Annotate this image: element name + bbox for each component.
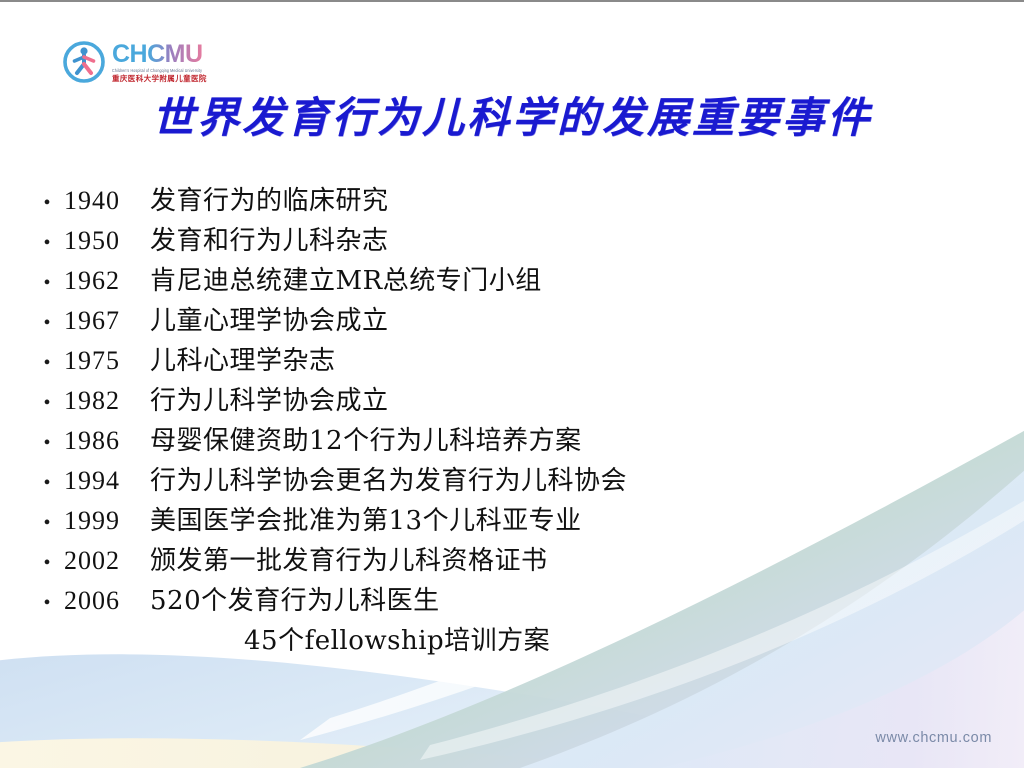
list-item: • 1967 儿童心理学协会成立	[30, 300, 994, 340]
bullet-icon: •	[30, 273, 64, 293]
timeline-text: 520个发育行为儿科医生	[138, 580, 440, 617]
list-item: • 1982 行为儿科学协会成立	[30, 380, 994, 420]
footer-website-url: www.chcmu.com	[875, 730, 992, 746]
list-item: • 1940 发育行为的临床研究	[30, 180, 994, 220]
list-item: • 1962 肯尼迪总统建立MR总统专门小组	[30, 260, 994, 300]
timeline-year: 1962	[64, 266, 138, 296]
timeline-year: 1982	[64, 386, 138, 416]
bullet-icon: •	[30, 193, 64, 213]
timeline-year: 1986	[64, 426, 138, 456]
bullet-icon: •	[30, 473, 64, 493]
page-title: 世界发育行为儿科学的发展重要事件	[0, 84, 1024, 145]
list-item: • 1994 行为儿科学协会更名为发育行为儿科协会	[30, 460, 994, 500]
presentation-slide: CHCMU Children's Hospital of Chongqing M…	[0, 0, 1024, 768]
bullet-icon: •	[30, 513, 64, 533]
timeline-text: 颁发第一批发育行为儿科资格证书	[138, 540, 548, 577]
list-item: • 1986 母婴保健资助12个行为儿科培养方案	[30, 420, 994, 460]
list-item: • 1975 儿科心理学杂志	[30, 340, 994, 380]
bullet-icon: •	[30, 313, 64, 333]
logo-wordmark: CHCMU	[112, 42, 207, 67]
list-item: • 1950 发育和行为儿科杂志	[30, 220, 994, 260]
timeline-text: 母婴保健资助12个行为儿科培养方案	[138, 420, 582, 457]
list-item: • 2006 520个发育行为儿科医生	[30, 580, 994, 620]
continuation-text: 45个fellowship培训方案	[244, 620, 550, 657]
logo-subtitle-chinese: 重庆医科大学附属儿童医院	[112, 75, 207, 83]
timeline-text: 肯尼迪总统建立MR总统专门小组	[138, 260, 542, 297]
timeline-text: 美国医学会批准为第13个儿科亚专业	[138, 500, 582, 537]
bullet-icon: •	[30, 553, 64, 573]
list-item: • 2002 颁发第一批发育行为儿科资格证书	[30, 540, 994, 580]
list-item: • 1999 美国医学会批准为第13个儿科亚专业	[30, 500, 994, 540]
list-item-continuation: 45个fellowship培训方案	[30, 620, 994, 662]
timeline-year: 1967	[64, 306, 138, 336]
timeline-year: 1975	[64, 346, 138, 376]
logo-text-block: CHCMU Children's Hospital of Chongqing M…	[112, 40, 207, 83]
timeline-text: 发育行为的临床研究	[138, 180, 389, 217]
hospital-logo: CHCMU Children's Hospital of Chongqing M…	[62, 40, 207, 84]
bullet-icon: •	[30, 593, 64, 613]
timeline-year: 1999	[64, 506, 138, 536]
timeline-year: 1950	[64, 226, 138, 256]
timeline-year: 1940	[64, 186, 138, 216]
bullet-icon: •	[30, 353, 64, 373]
timeline-text: 行为儿科学协会成立	[138, 380, 389, 417]
logo-subtitle-english: Children's Hospital of Chongqing Medical…	[112, 68, 207, 75]
timeline-year: 1994	[64, 466, 138, 496]
timeline-year: 2006	[64, 586, 138, 616]
bullet-icon: •	[30, 233, 64, 253]
timeline-text: 发育和行为儿科杂志	[138, 220, 389, 257]
timeline-text: 儿童心理学协会成立	[138, 300, 389, 337]
bullet-icon: •	[30, 433, 64, 453]
timeline-text: 行为儿科学协会更名为发育行为儿科协会	[138, 460, 627, 497]
chcmu-emblem-icon	[62, 40, 106, 84]
timeline-list: • 1940 发育行为的临床研究 • 1950 发育和行为儿科杂志 • 1962…	[30, 180, 994, 662]
bullet-icon: •	[30, 393, 64, 413]
timeline-text: 儿科心理学杂志	[138, 340, 336, 377]
timeline-year: 2002	[64, 546, 138, 576]
